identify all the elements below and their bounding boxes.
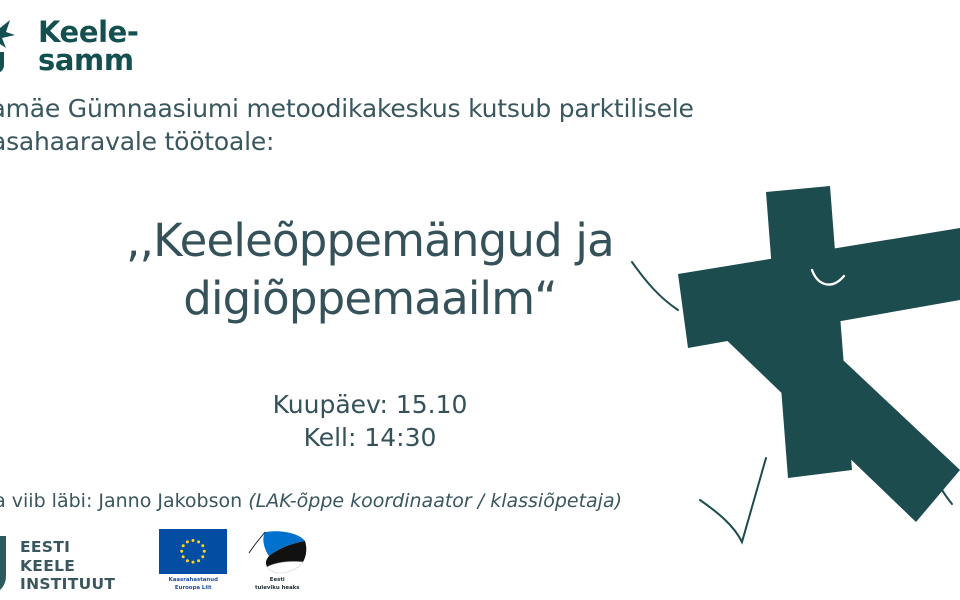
brand-logo: Keele- samm [0, 18, 139, 74]
slide-canvas: Keele- samm snamäe Gümnaasiumi metoodika… [0, 0, 960, 600]
european-union-flag-icon [159, 529, 227, 574]
corner-stroke [925, 458, 952, 504]
funding-item: Kaasrahastanud Euroopa Liit [159, 529, 227, 592]
intro-paragraph: snamäe Gümnaasiumi metoodikakeskus kutsu… [0, 92, 822, 158]
schedule-block: Kuupäev: 15.10 Kell: 14:30 [60, 388, 680, 455]
schedule-date: Kuupäev: 15.10 [60, 388, 680, 421]
eki-name: EESTI KEELE INSTITUUT [20, 538, 115, 595]
funding-caption: Eesti tuleviku heaks [255, 577, 300, 592]
estonia-flag-swoosh-icon [243, 529, 311, 574]
eki-shield-icon [0, 536, 12, 596]
presenter-lead-in: uba viib läbi: [0, 490, 92, 512]
keele-samm-mark-icon [0, 18, 28, 74]
schedule-time: Kell: 14:30 [60, 421, 680, 454]
footer-logos: EESTI KEELE INSTITUUT [0, 529, 311, 596]
brand-wordmark: Keele- samm [38, 18, 139, 74]
funding-caption: Kaasrahastanud Euroopa Liit [169, 577, 218, 592]
funding-item: Eesti tuleviku heaks [243, 529, 311, 592]
presenter-line: uba viib läbi:Janno Jakobson (LAK-õppe k… [0, 490, 622, 512]
check-stroke [700, 458, 766, 542]
eki-logo: EESTI KEELE INSTITUUT [0, 536, 115, 596]
workshop-title: ,,Keeleõppemängud ja digiõppemaailm“ [60, 212, 680, 327]
eu-funding-logo: Kaasrahastanud Euroopa Liit Eesti tulevi… [159, 529, 311, 596]
presenter-role: (LAK-õppe koordinaator / klassiõpetaja) [248, 490, 622, 512]
presenter-name: Janno Jakobson [98, 490, 242, 512]
crescent-stroke [812, 270, 844, 285]
